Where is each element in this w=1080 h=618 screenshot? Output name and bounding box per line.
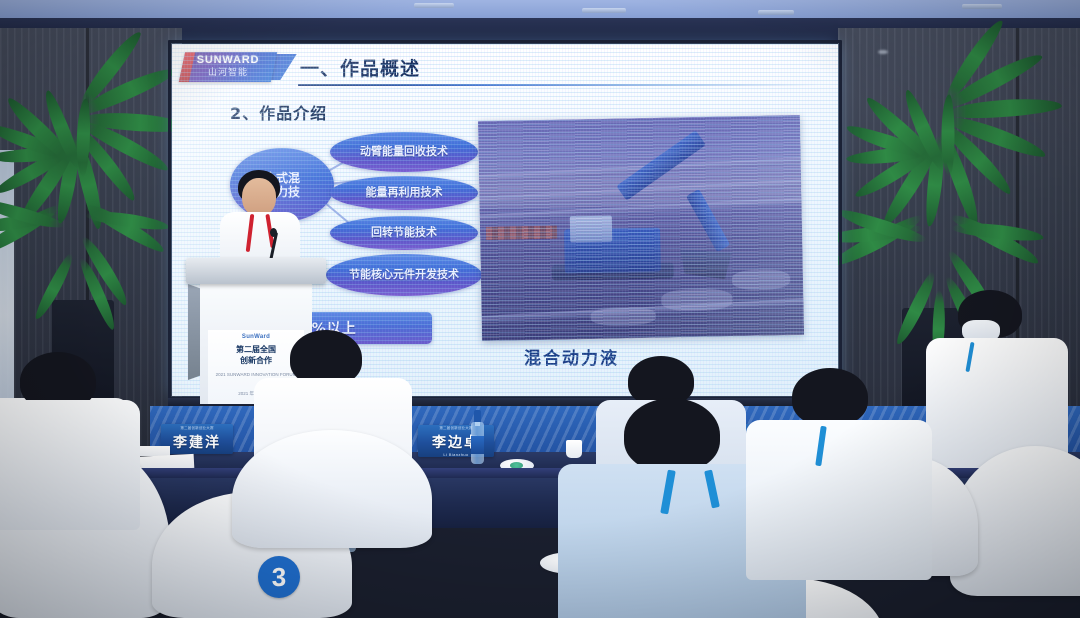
- chair-number-badge: 3: [258, 556, 300, 598]
- diagram-oval-2: 能量再利用技术: [330, 176, 478, 210]
- diagram-oval-label: 节能核心元件开发技术: [349, 269, 459, 282]
- podium-top-surface: [186, 258, 326, 284]
- logo-english-text: SUNWARD: [197, 55, 259, 66]
- attendee-front-right: [762, 368, 922, 578]
- slide-subtitle: 2、作品介绍: [230, 100, 327, 124]
- nameplate-name: 李建洋: [173, 432, 221, 452]
- diagram-oval-label: 动臂能量回收技术: [360, 146, 448, 159]
- nameplate-pinyin: Li Bianzhuo: [443, 452, 468, 457]
- ceiling-light: [414, 3, 454, 8]
- attendee-hair: [792, 368, 868, 426]
- plant-left: [0, 80, 180, 330]
- ceiling-light: [582, 8, 626, 13]
- nameplate-event-text: 第二届创新创业大赛: [439, 426, 472, 431]
- slide-title: 一、作品概述: [300, 54, 420, 81]
- diagram-oval-label: 回转节能技术: [371, 227, 437, 240]
- logo-chinese-text: 山河智能: [208, 67, 248, 79]
- water-bottle: [471, 410, 484, 464]
- attendee-hair: [624, 398, 720, 472]
- nameplate-event-text: 第二届创新创业大赛: [180, 426, 213, 431]
- screenshot-root: SUNWARD 山河智能 一、作品概述 2、作品介绍 合式混 动力技 动臂能量回…: [0, 0, 1080, 618]
- diagram-oval-4: 节能核心元件开发技术: [326, 254, 482, 296]
- microphone-head: [270, 228, 277, 237]
- excavator-photo: [478, 115, 804, 341]
- diagram-oval-3: 回转节能技术: [330, 216, 478, 250]
- photo-caption: 混合动力液: [524, 344, 619, 369]
- attendee-torso: [746, 420, 932, 580]
- slide-title-underline: [298, 84, 818, 86]
- ceiling-light: [758, 10, 794, 15]
- attendee-torso: [0, 400, 140, 530]
- chair-number-text: 3: [272, 562, 286, 593]
- nameplate-1: 第二届创新创业大赛 李建洋: [161, 424, 233, 454]
- diagram-oval-label: 能量再利用技术: [366, 187, 443, 200]
- attendee-front-left: [0, 462, 150, 618]
- ceiling-light: [962, 4, 1002, 9]
- downlight: [878, 50, 888, 54]
- speaker-head: [242, 178, 276, 216]
- sunward-logo: SUNWARD 山河智能: [179, 52, 277, 82]
- diagram-oval-1: 动臂能量回收技术: [330, 132, 478, 172]
- photo-moire-overlay: [478, 115, 804, 341]
